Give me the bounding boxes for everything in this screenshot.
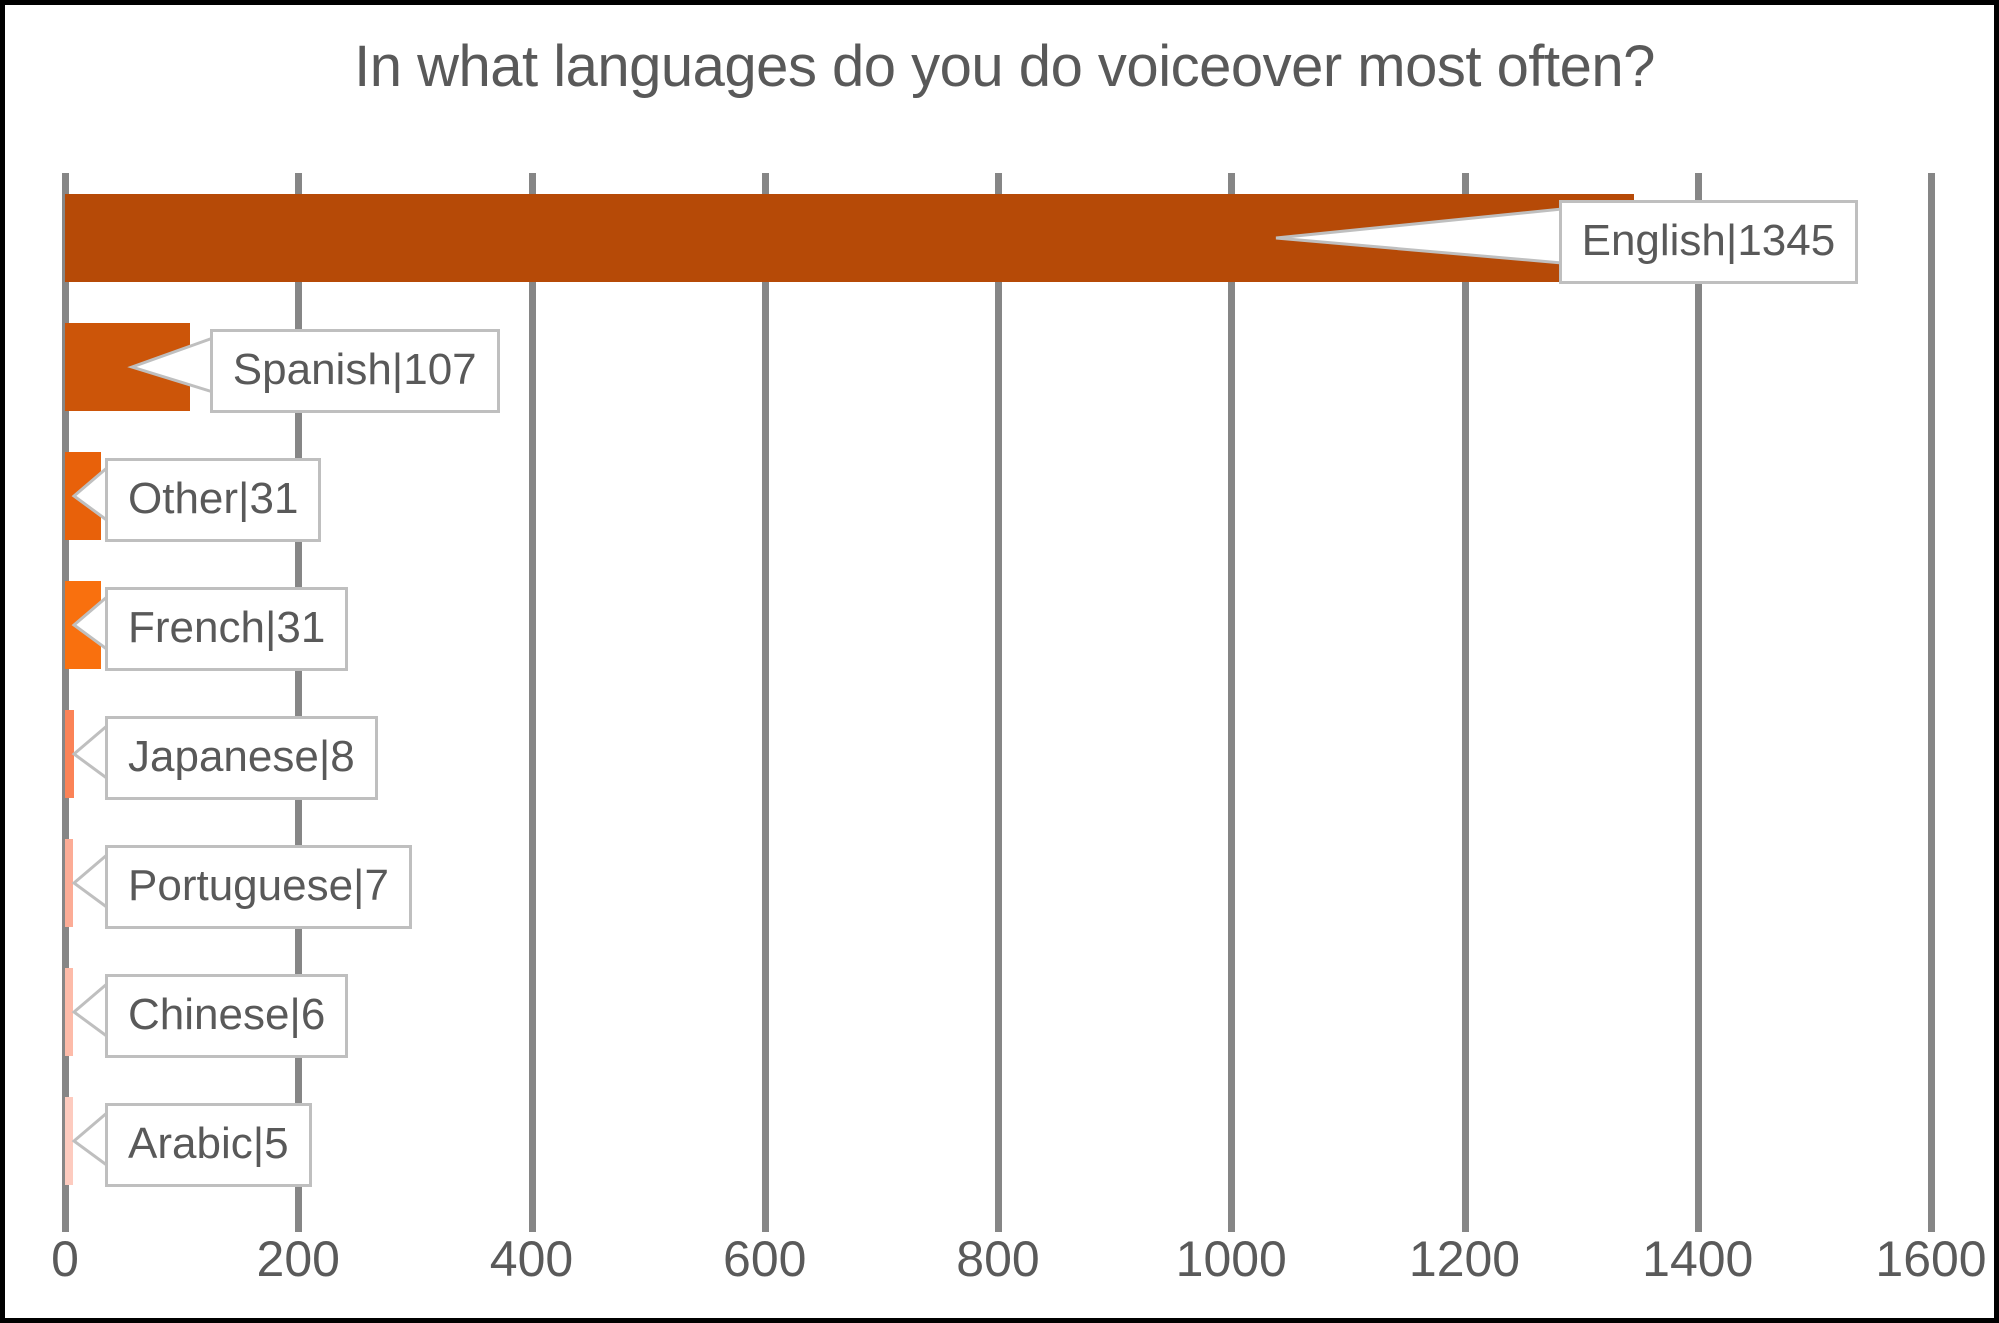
data-label-japanese[interactable]: Japanese|8 — [105, 716, 378, 800]
x-tick-label-800: 800 — [956, 1230, 1039, 1288]
data-label-chinese[interactable]: Chinese|6 — [105, 974, 348, 1058]
x-tick-label-1600: 1600 — [1875, 1230, 1986, 1288]
gridline-1600 — [1928, 173, 1935, 1206]
tick-mark-1400 — [1695, 1206, 1702, 1232]
data-label-english[interactable]: English|1345 — [1559, 200, 1859, 284]
leader-line-english — [1274, 203, 1565, 273]
data-label-arabic[interactable]: Arabic|5 — [105, 1103, 312, 1187]
x-tick-label-200: 200 — [257, 1230, 340, 1288]
chart-page: In what languages do you do voiceover mo… — [0, 0, 1999, 1323]
gridline-1200 — [1462, 173, 1469, 1206]
x-tick-label-400: 400 — [490, 1230, 573, 1288]
tick-mark-200 — [295, 1206, 302, 1232]
tick-mark-1200 — [1462, 1206, 1469, 1232]
leader-line-spanish — [130, 332, 216, 402]
data-label-portuguese[interactable]: Portuguese|7 — [105, 845, 412, 929]
x-tick-label-0: 0 — [51, 1230, 79, 1288]
tick-mark-800 — [995, 1206, 1002, 1232]
gridline-400 — [529, 173, 536, 1206]
x-tick-label-1200: 1200 — [1409, 1230, 1520, 1288]
data-label-spanish[interactable]: Spanish|107 — [210, 329, 500, 413]
tick-mark-1000 — [1228, 1206, 1235, 1232]
x-tick-label-600: 600 — [723, 1230, 806, 1288]
chart-title: In what languages do you do voiceover mo… — [5, 33, 1999, 100]
tick-mark-600 — [762, 1206, 769, 1232]
data-label-french[interactable]: French|31 — [105, 587, 348, 671]
gridline-800 — [995, 173, 1002, 1206]
x-tick-label-1400: 1400 — [1642, 1230, 1753, 1288]
x-axis-tick-labels: 02004006008001000120014001600 — [5, 1230, 1999, 1310]
tick-mark-1600 — [1928, 1206, 1935, 1232]
x-tick-label-1000: 1000 — [1176, 1230, 1287, 1288]
tick-mark-0 — [62, 1206, 69, 1232]
tick-mark-400 — [529, 1206, 536, 1232]
gridline-1400 — [1695, 173, 1702, 1206]
plot-area: English|1345Spanish|107Other|31French|31… — [65, 173, 1931, 1206]
data-label-other[interactable]: Other|31 — [105, 458, 321, 542]
gridline-600 — [762, 173, 769, 1206]
gridline-1000 — [1228, 173, 1235, 1206]
